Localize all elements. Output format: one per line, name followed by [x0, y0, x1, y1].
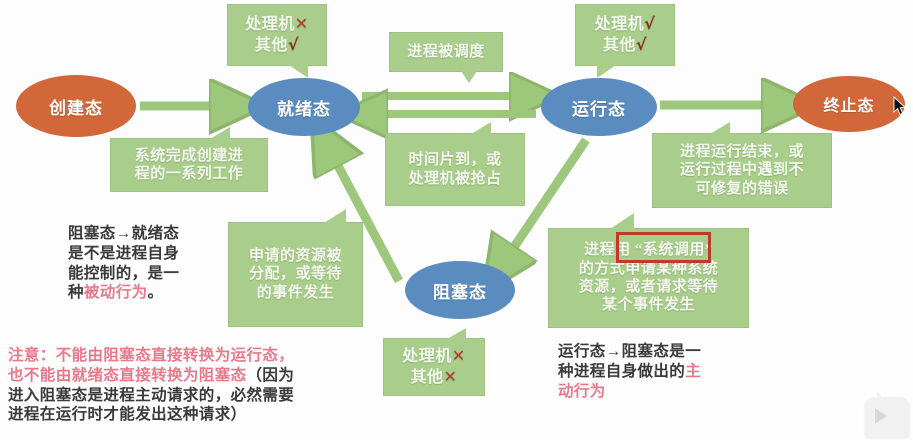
callout-text: 处理机 — [402, 348, 452, 365]
note-text: 运行态→阻塞态是一 — [558, 343, 701, 360]
callout-tail-syscall-request — [610, 213, 634, 229]
cross-mark-icon: ✕ — [295, 14, 309, 33]
note-line: 动行为 — [558, 382, 748, 402]
note-line: 进入阻塞态是进程主动请求的，必然需要 — [8, 386, 380, 406]
callout-text: 时间片到，或 — [408, 152, 501, 168]
callout-text: 进程运行结束，或 — [680, 144, 804, 160]
note-text: 进程在运行时才能发出这种请求） — [8, 406, 247, 423]
callout-line: 程的一系列工作 — [135, 165, 244, 183]
note-text: 。 — [148, 284, 164, 301]
callout-line: 资源，或者请求等待 — [579, 278, 719, 296]
callout-text: 处理机被抢占 — [408, 171, 501, 187]
note-line: 也不能由就绪态直接转换为阻塞态（因为 — [8, 366, 380, 386]
callout-text: 申请的资源被 — [249, 248, 342, 264]
note-emphasis-text: 注意：不能由阻塞态直接转换为运行态， — [8, 347, 294, 364]
callout-line: 其他√ — [255, 35, 299, 56]
callout-text: 程的一系列工作 — [135, 166, 244, 182]
state-node-running[interactable]: 运行态 — [541, 78, 657, 136]
callout-terminate-reason: 进程运行结束，或运行过程中遇到不可修复的错误 — [652, 133, 832, 208]
callout-create-work: 系统完成创建进程的一系列工作 — [110, 138, 268, 192]
callout-timeslice: 时间片到，或处理机被抢占 — [385, 133, 525, 206]
state-node-created[interactable]: 创建态 — [16, 75, 136, 137]
callout-line: 可修复的错误 — [695, 180, 788, 198]
callout-resource-granted: 申请的资源被分配，或等待的事件发生 — [228, 222, 363, 327]
callout-text: 某个事件发生 — [602, 297, 695, 313]
note-text: （因为 — [247, 367, 295, 384]
note-emphasis-text: 动行为 — [558, 383, 606, 400]
state-label: 创建态 — [49, 94, 103, 119]
callout-ready-resource: 处理机✕其他√ — [227, 4, 327, 66]
note-line: 能控制的，是一 — [68, 264, 218, 284]
callout-tail-scheduled — [461, 71, 477, 83]
callout-line: 的方式申请某种系统 — [579, 260, 719, 278]
check-mark-icon: √ — [288, 35, 299, 54]
callout-text: 可修复的错误 — [695, 181, 788, 197]
callout-line: 其他✕ — [411, 367, 458, 388]
callout-text: 处理机 — [595, 16, 645, 33]
state-node-ready[interactable]: 就绪态 — [248, 78, 360, 136]
note-text: 能控制的，是一 — [68, 265, 179, 282]
note-emphasis-text: 也不能由就绪态直接转换为阻塞态 — [8, 367, 247, 384]
note-running-to-blocked: 运行态→阻塞态是一种进程自身做出的主动行为 — [558, 342, 748, 401]
callout-blocked-resource: 处理机✕其他✕ — [383, 338, 485, 396]
state-label: 阻塞态 — [433, 278, 487, 303]
callout-line: 分配，或等待 — [249, 265, 342, 283]
callout-tail-create-work — [210, 127, 230, 139]
note-text: 阻塞态→就绪态 — [68, 225, 179, 242]
callout-text: 其他 — [255, 37, 288, 54]
callout-line: 其他√ — [603, 35, 647, 56]
callout-line: 系统完成创建进 — [135, 147, 244, 165]
cross-mark-icon: ✕ — [444, 367, 458, 386]
callout-line: 处理机√ — [595, 14, 656, 35]
note-line: 种被动行为。 — [68, 283, 218, 303]
note-line: 运行态→阻塞态是一 — [558, 342, 748, 362]
note-emphasis-text: 被动行为 — [84, 284, 148, 301]
state-label: 终止态 — [823, 92, 874, 116]
callout-line: 处理机✕ — [245, 14, 308, 35]
callout-tail-ready-resource — [289, 65, 308, 78]
player-button[interactable] — [865, 398, 909, 438]
note-line: 种进程自身做出的主 — [558, 362, 748, 382]
state-node-terminated[interactable]: 终止态 — [793, 76, 905, 132]
note-text: 进入阻塞态是进程主动请求的，必然需要 — [8, 387, 294, 404]
callout-text: 进程用 “ — [584, 242, 643, 258]
callout-tail-blocked-resource — [447, 328, 466, 339]
callout-text: 系统调用 — [643, 242, 705, 258]
callout-line: 时间片到，或 — [408, 151, 501, 169]
callout-text: 进程被调度 — [407, 44, 485, 60]
callout-line: 运行过程中遇到不 — [680, 161, 804, 179]
state-label: 就绪态 — [277, 95, 331, 120]
callout-text: 其他 — [411, 369, 444, 386]
callout-line: 处理机被抢占 — [408, 170, 501, 188]
note-text: 种进程自身做出的 — [558, 363, 685, 380]
callout-syscall-request: 进程用 “系统调用”的方式申请某种系统资源，或者请求等待某个事件发生 — [548, 228, 749, 328]
callout-line: 进程运行结束，或 — [680, 143, 804, 161]
callout-tail-resource-granted — [324, 209, 346, 223]
callout-line: 的事件发生 — [257, 284, 335, 302]
callout-line: 进程用 “系统调用” — [584, 241, 713, 259]
note-text: 种 — [68, 284, 84, 301]
callout-text: 其他 — [603, 37, 636, 54]
check-mark-icon: √ — [644, 14, 655, 33]
mouse-cursor — [893, 96, 907, 116]
state-label: 运行态 — [572, 95, 626, 120]
callout-running-resource: 处理机√其他√ — [575, 4, 675, 66]
note-blocked-to-ready: 阻塞态→就绪态是不是进程自身能控制的，是一种被动行为。 — [68, 224, 218, 303]
callout-text: ” — [705, 242, 713, 258]
callout-line: 处理机✕ — [402, 346, 465, 367]
callout-tail-timeslice — [471, 122, 491, 134]
note-line: 阻塞态→就绪态 — [68, 224, 218, 244]
cross-mark-icon: ✕ — [452, 346, 466, 365]
callout-text: 运行过程中遇到不 — [680, 162, 804, 178]
callout-text: 处理机 — [245, 16, 295, 33]
callout-text: 的方式申请某种系统 — [579, 261, 719, 277]
callout-tail-running-resource — [597, 65, 616, 78]
check-mark-icon: √ — [636, 35, 647, 54]
note-line: 是不是进程自身 — [68, 244, 218, 264]
callout-tail-terminate-reason — [710, 122, 730, 134]
note-warning: 注意：不能由阻塞态直接转换为运行态，也不能由就绪态直接转换为阻塞态（因为进入阻塞… — [8, 346, 380, 425]
note-text: 是不是进程自身 — [68, 245, 179, 262]
callout-text: 分配，或等待 — [249, 266, 342, 282]
note-line: 注意：不能由阻塞态直接转换为运行态， — [8, 346, 380, 366]
callout-line: 某个事件发生 — [602, 296, 695, 314]
callout-line: 申请的资源被 — [249, 247, 342, 265]
callout-line: 进程被调度 — [407, 43, 485, 61]
callout-text: 的事件发生 — [257, 285, 335, 301]
callout-text: 资源，或者请求等待 — [579, 279, 719, 295]
callout-text: 系统完成创建进 — [135, 148, 244, 164]
callout-scheduled: 进程被调度 — [389, 32, 503, 72]
note-line: 进程在运行时才能发出这种请求） — [8, 405, 380, 425]
state-node-blocked[interactable]: 阻塞态 — [405, 261, 515, 319]
diagram-canvas: 就绪态 运行态 阻塞态 创建态 终止态 处理机✕其他√进程被调度处理机√其他√系… — [0, 0, 913, 440]
note-emphasis-text: 主 — [685, 363, 701, 380]
